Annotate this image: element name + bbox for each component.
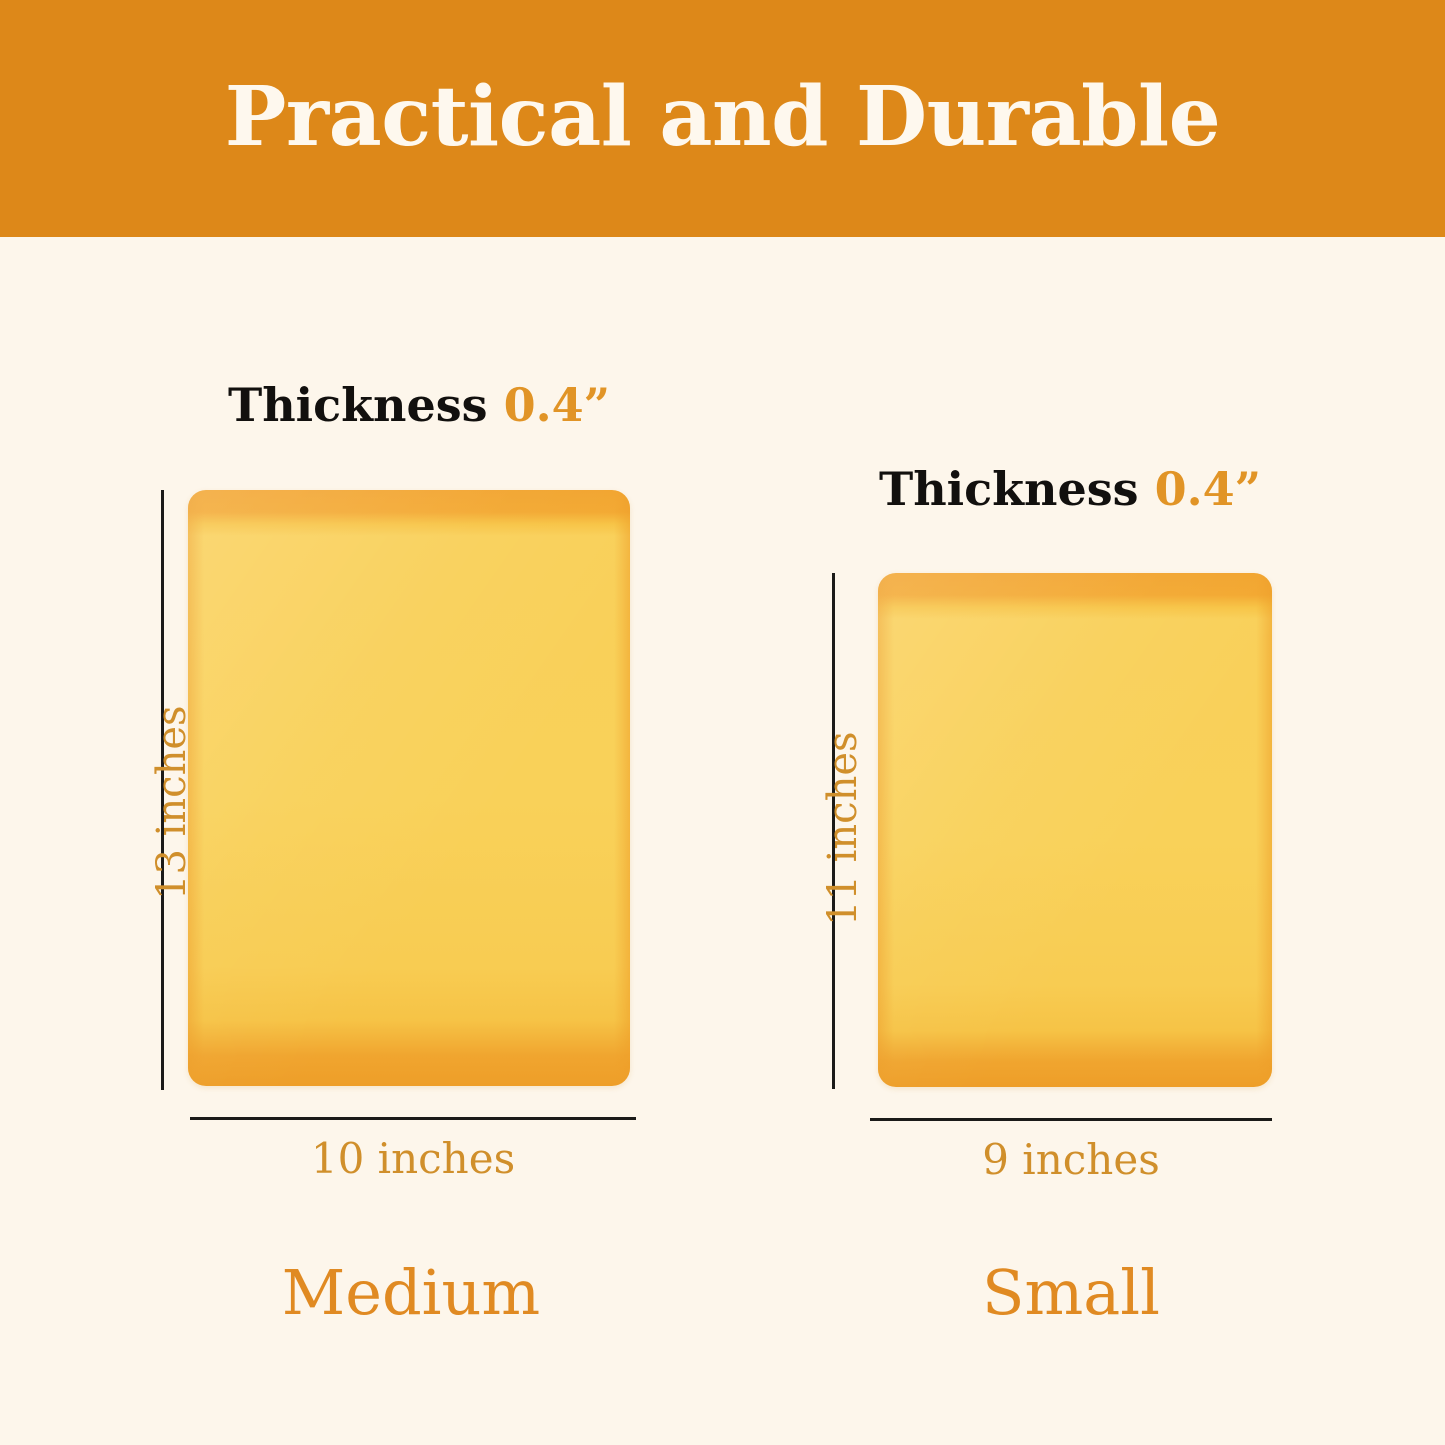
page-title: Practical and Durable bbox=[225, 76, 1221, 158]
header-banner: Practical and Durable bbox=[0, 0, 1445, 237]
small-height-label: 11 inches bbox=[823, 731, 863, 926]
medium-product-slab bbox=[188, 490, 630, 1086]
medium-thickness-label: Thickness 0.4” bbox=[228, 382, 610, 428]
small-size-name: Small bbox=[870, 1262, 1272, 1324]
medium-thickness-value: 0.4” bbox=[504, 378, 611, 432]
infographic-page: Practical and Durable Thickness 0.4” 13 … bbox=[0, 0, 1445, 1445]
small-thickness-value: 0.4” bbox=[1155, 462, 1262, 516]
medium-width-label: 10 inches bbox=[190, 1138, 636, 1180]
medium-size-name: Medium bbox=[188, 1262, 634, 1324]
small-thickness-label: Thickness 0.4” bbox=[879, 466, 1261, 512]
small-width-label: 9 inches bbox=[870, 1139, 1272, 1181]
medium-width-dimension-line bbox=[190, 1117, 636, 1120]
medium-thickness-prefix: Thickness bbox=[228, 378, 488, 432]
small-width-dimension-line bbox=[870, 1118, 1272, 1121]
small-product-slab bbox=[878, 573, 1272, 1087]
medium-height-label: 13 inches bbox=[152, 705, 192, 900]
small-thickness-prefix: Thickness bbox=[879, 462, 1139, 516]
